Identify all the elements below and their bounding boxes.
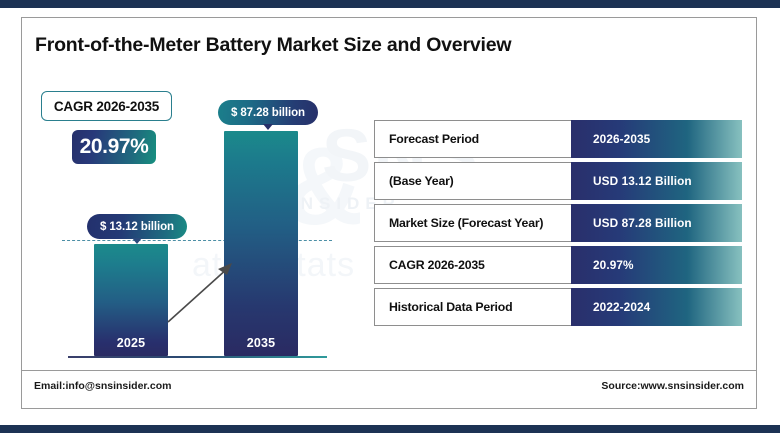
table-label-text: Market Size (Forecast Year): [389, 216, 543, 230]
cagr-label-text: CAGR 2026-2035: [54, 99, 159, 114]
table-cell-label: Forecast Period: [374, 120, 571, 158]
bar-value-pill-2035: $ 87.28 billion: [218, 100, 318, 125]
top-accent-band-inner: [0, 8, 780, 11]
bar-category-label-2035: 2035: [224, 336, 298, 350]
table-value-text: USD 13.12 Billion: [593, 174, 692, 188]
table-row: Market Size (Forecast Year) USD 87.28 Bi…: [374, 204, 742, 242]
table-cell-value: USD 13.12 Billion: [571, 162, 742, 200]
bottom-accent-band: [0, 425, 780, 433]
table-value-text: 20.97%: [593, 258, 634, 272]
table-label-text: Forecast Period: [389, 132, 479, 146]
bar-value-pill-2025: $ 13.12 billion: [87, 214, 187, 239]
cagr-value-badge: 20.97%: [72, 130, 156, 164]
bar-category-label-2025: 2025: [94, 336, 168, 350]
infographic-card: & SNS INSIDER ated Stats Front-of-the-Me…: [21, 17, 757, 409]
table-cell-value: 20.97%: [571, 246, 742, 284]
cagr-value-text: 20.97%: [80, 135, 149, 159]
table-cell-value: USD 87.28 Billion: [571, 204, 742, 242]
table-label-text: CAGR 2026-2035: [389, 258, 485, 272]
table-row: Forecast Period 2026-2035: [374, 120, 742, 158]
table-label-text: Historical Data Period: [389, 300, 512, 314]
footer-email: Email:info@snsinsider.com: [34, 380, 171, 392]
cagr-label-box: CAGR 2026-2035: [41, 91, 172, 121]
table-value-text: 2026-2035: [593, 132, 650, 146]
table-cell-value: 2026-2035: [571, 120, 742, 158]
table-label-text: (Base Year): [389, 174, 454, 188]
market-overview-table: Forecast Period 2026-2035 (Base Year) US…: [374, 120, 742, 330]
table-cell-label: CAGR 2026-2035: [374, 246, 571, 284]
bar-value-text-2025: $ 13.12 billion: [100, 221, 174, 233]
table-cell-value: 2022-2024: [571, 288, 742, 326]
bar-2025: 2025: [94, 244, 168, 356]
bar-value-text-2035: $ 87.28 billion: [231, 107, 305, 119]
table-row: (Base Year) USD 13.12 Billion: [374, 162, 742, 200]
table-cell-label: Historical Data Period: [374, 288, 571, 326]
bottom-accent-band-inner: [0, 422, 780, 425]
table-cell-label: (Base Year): [374, 162, 571, 200]
page-title: Front-of-the-Meter Battery Market Size a…: [35, 34, 511, 57]
table-cell-label: Market Size (Forecast Year): [374, 204, 571, 242]
table-value-text: USD 87.28 Billion: [593, 216, 692, 230]
table-row: CAGR 2026-2035 20.97%: [374, 246, 742, 284]
chart-baseline-axis: [68, 356, 327, 358]
footer-source: Source:www.snsinsider.com: [601, 380, 744, 392]
top-accent-band: [0, 0, 780, 8]
table-row: Historical Data Period 2022-2024: [374, 288, 742, 326]
bar-chart: 2025 2035 $ 13.12 billion $ 87.28 billio…: [22, 18, 382, 409]
table-value-text: 2022-2024: [593, 300, 650, 314]
growth-arrow-icon: [162, 258, 242, 328]
